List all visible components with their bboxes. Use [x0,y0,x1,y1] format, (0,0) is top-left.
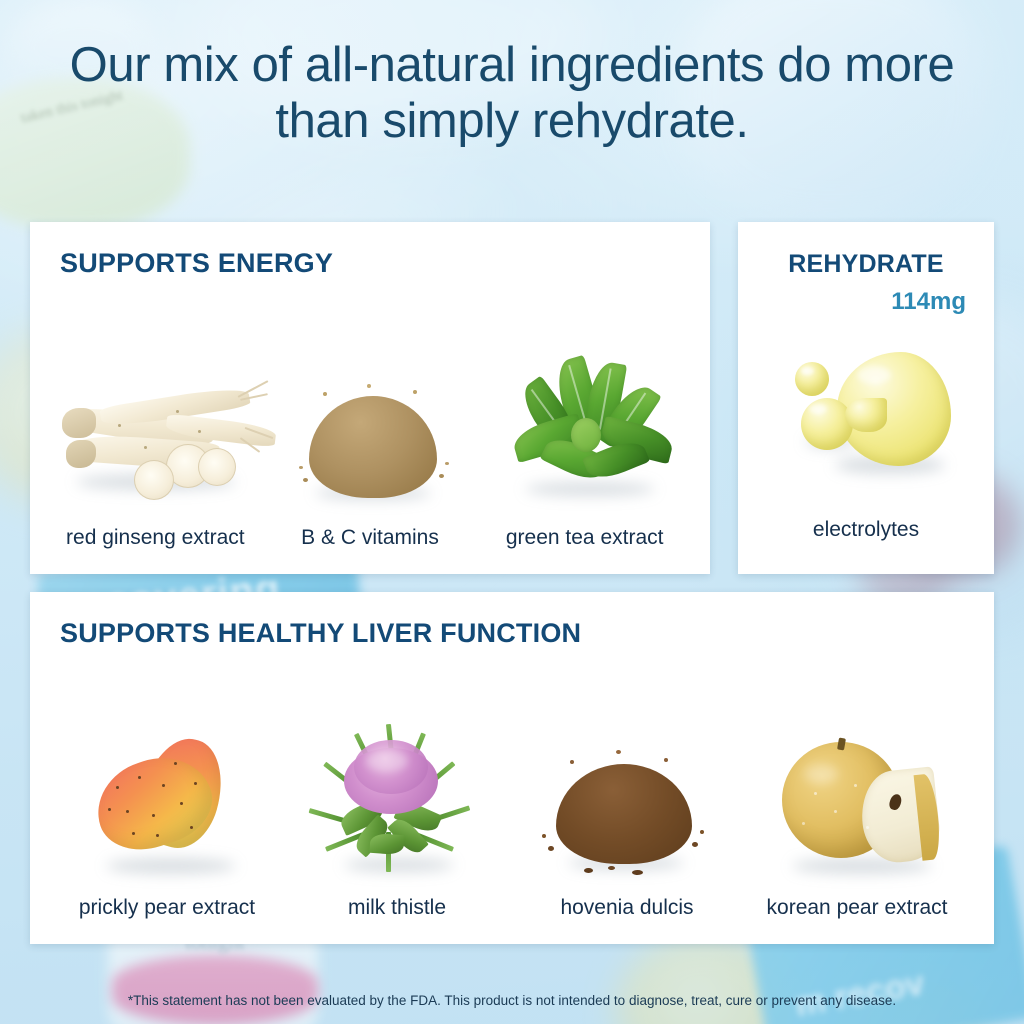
ingredient-label: B & C vitamins [301,526,439,550]
card-supports-healthy-liver-function: SUPPORTS HEALTHY LIVER FUNCTION [30,592,994,944]
ingredient-red-ginseng: red ginseng extract [48,330,263,550]
ingredient-label: red ginseng extract [66,526,245,550]
rehydrate-ingredient-list: electrolytes [738,332,994,542]
page-headline: Our mix of all-natural ingredients do mo… [0,38,1024,150]
hovenia-powder-icon [512,722,742,882]
card-supports-energy: SUPPORTS ENERGY [30,222,710,574]
fda-disclaimer: *This statement has not been evaluated b… [0,993,1024,1008]
ingredient-electrolytes: electrolytes [738,332,994,542]
vitamin-powder-icon [263,352,478,512]
ingredient-green-tea: green tea extract [477,330,692,550]
liver-ingredient-list: prickly pear extract [52,688,972,920]
korean-pear-icon [742,722,972,882]
ingredient-label: korean pear extract [767,896,948,920]
ingredient-korean-pear: korean pear extract [742,688,972,920]
rehydrate-dose-value: 114mg [738,288,994,316]
ginseng-root-icon [48,352,263,512]
ingredient-milk-thistle: milk thistle [282,688,512,920]
ingredient-hovenia-dulcis: hovenia dulcis [512,688,742,920]
card-title-liver-function: SUPPORTS HEALTHY LIVER FUNCTION [60,618,581,649]
ingredient-label: prickly pear extract [79,896,255,920]
card-title-rehydrate: REHYDRATE [738,250,994,279]
ingredient-label: milk thistle [348,896,446,920]
green-tea-leaves-icon [477,352,692,512]
card-title-supports-energy: SUPPORTS ENERGY [60,248,333,279]
card-rehydrate: REHYDRATE 114mg el [738,222,994,574]
electrolyte-droplets-icon [761,344,971,504]
prickly-pear-icon [52,722,282,882]
ingredient-label: green tea extract [506,526,664,550]
ingredient-label: electrolytes [813,518,919,542]
ingredient-prickly-pear: prickly pear extract [52,688,282,920]
ingredient-label: hovenia dulcis [560,896,693,920]
energy-ingredient-list: red ginseng extract [48,330,692,550]
ingredient-b-and-c-vitamins: B & C vitamins [263,330,478,550]
milk-thistle-icon [282,722,512,882]
